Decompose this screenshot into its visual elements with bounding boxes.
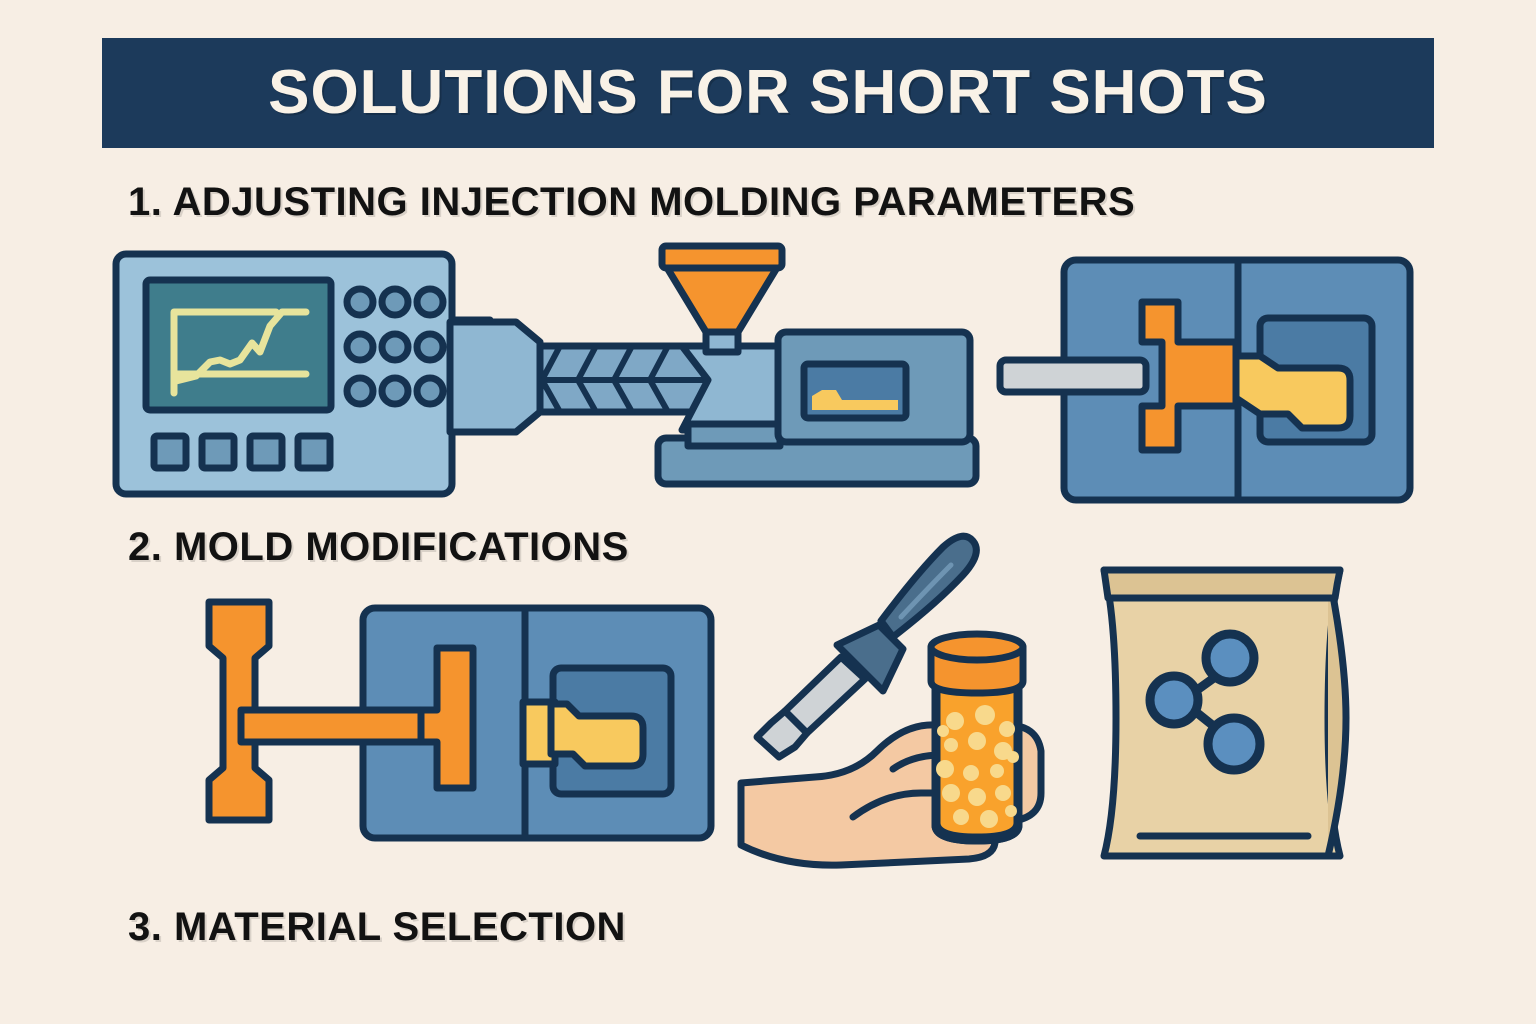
keypad-icon[interactable] xyxy=(347,289,443,404)
hopper-rim xyxy=(662,246,782,268)
bag-top-seal xyxy=(1104,570,1340,598)
nozzle xyxy=(1000,360,1146,392)
runner-system-illustration xyxy=(185,590,725,860)
section-heading-3: 3. MATERIAL SELECTION xyxy=(128,905,626,950)
material-bag-icon xyxy=(1104,570,1340,856)
infographic-canvas: SOLUTIONS FOR SHORT SHOTS 1. ADJUSTING I… xyxy=(0,0,1536,1024)
molded-part xyxy=(551,704,643,766)
hand-pellet-jar-illustration xyxy=(745,525,1075,880)
section-heading-2: 2. MOLD MODIFICATIONS xyxy=(128,525,629,570)
injection-unit-illustration xyxy=(460,240,990,500)
mold-cross-section-illustration xyxy=(1020,250,1420,510)
page-title: SOLUTIONS FOR SHORT SHOTS xyxy=(268,62,1268,124)
section-heading-1: 1. ADJUSTING INJECTION MOLDING PARAMETER… xyxy=(128,180,1135,225)
control-panel-illustration xyxy=(110,248,480,503)
drive-block xyxy=(450,322,540,432)
throat-shoe xyxy=(688,424,780,446)
funnel-icon xyxy=(666,266,778,332)
material-bag-illustration xyxy=(1078,548,1378,878)
title-banner: SOLUTIONS FOR SHORT SHOTS xyxy=(102,38,1434,148)
